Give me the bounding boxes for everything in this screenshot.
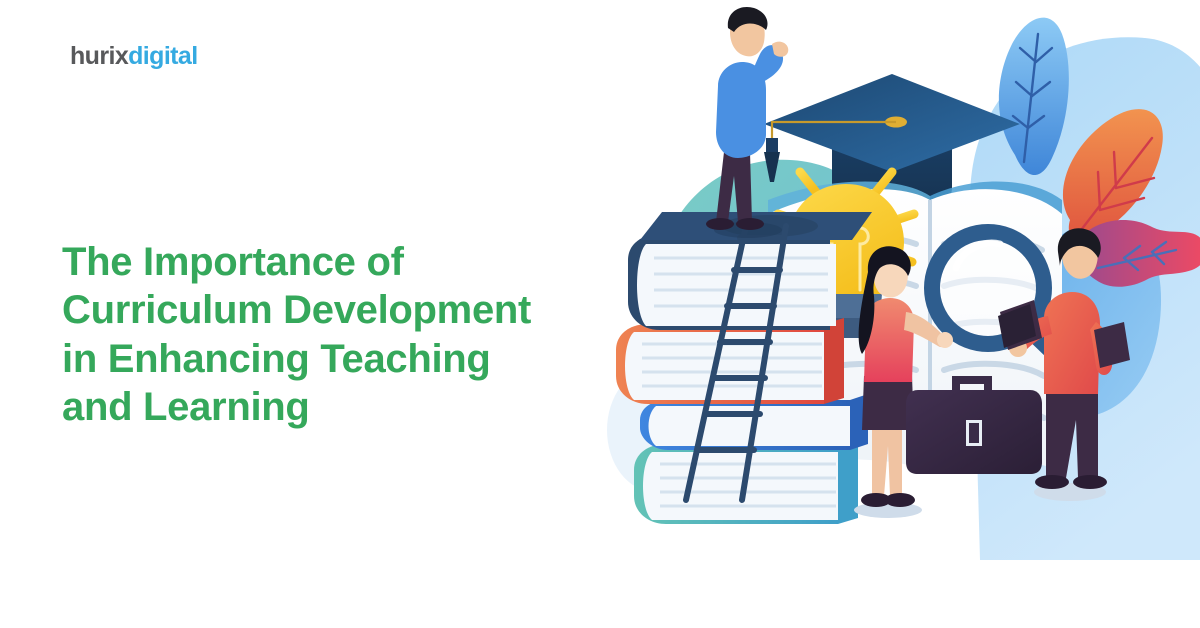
cap-tassel-top bbox=[766, 138, 778, 152]
briefcase-icon bbox=[906, 376, 1042, 474]
headline-line-1: The Importance of bbox=[62, 238, 622, 286]
man-shoe-left bbox=[1035, 475, 1069, 489]
education-illustration bbox=[600, 0, 1200, 628]
headline-line-3: in Enhancing Teaching bbox=[62, 335, 622, 383]
blog-hero-banner: hurixdigital The Importance of Curriculu… bbox=[0, 0, 1200, 628]
woman-legs bbox=[872, 420, 902, 496]
logo-text-digital: digital bbox=[128, 42, 197, 70]
man-book-side bbox=[1094, 322, 1130, 368]
person-on-books-shoe-left bbox=[706, 218, 734, 230]
illustration-svg bbox=[600, 0, 1200, 628]
stack-edge-orange bbox=[824, 318, 844, 404]
headline-line-2: Curriculum Development bbox=[62, 286, 622, 334]
page-title: The Importance of Curriculum Development… bbox=[62, 238, 622, 432]
briefcase-latch-inner bbox=[969, 423, 979, 443]
logo-text-hurix: hurix bbox=[70, 42, 128, 70]
woman-hand bbox=[937, 332, 953, 348]
headline-line-4: and Learning bbox=[62, 383, 622, 431]
woman-shadow bbox=[854, 502, 922, 518]
man-shirt bbox=[1044, 292, 1100, 394]
man-shoe-right bbox=[1073, 475, 1107, 489]
hurix-digital-logo[interactable]: hurixdigital bbox=[70, 44, 198, 69]
person-on-books-shoe-right bbox=[736, 218, 764, 230]
woman-shoe-right bbox=[885, 493, 915, 507]
